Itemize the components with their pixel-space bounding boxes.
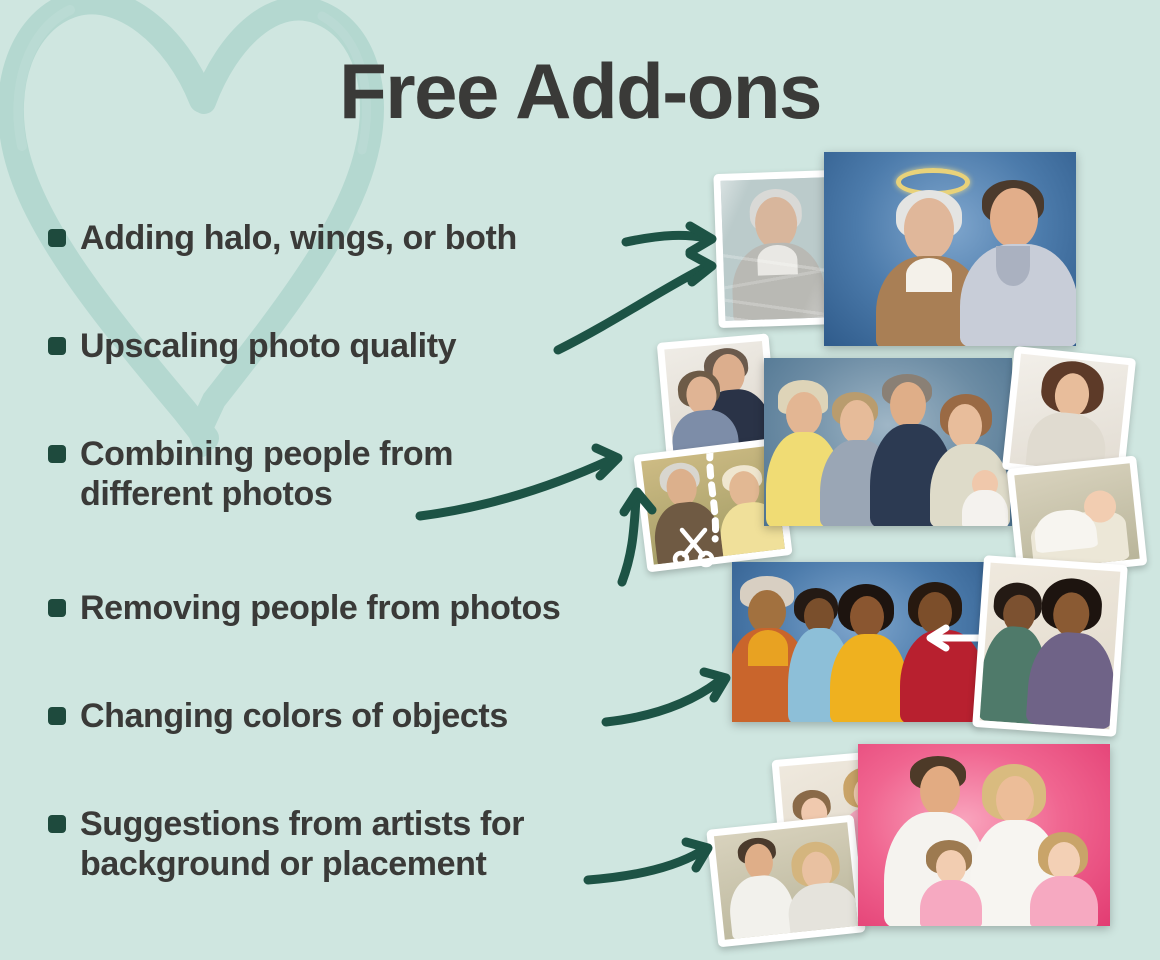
list-item-label: Combining people from different photos bbox=[80, 434, 453, 514]
infographic-canvas: Free Add-ons Adding halo, wings, or both… bbox=[0, 0, 1160, 960]
list-item-upscaling: Upscaling photo quality bbox=[48, 326, 456, 366]
scissors-icon bbox=[672, 524, 716, 568]
square-bullet-icon bbox=[48, 815, 66, 833]
list-item-label: Changing colors of objects bbox=[80, 696, 508, 736]
list-item-label: Adding halo, wings, or both bbox=[80, 218, 517, 258]
square-bullet-icon bbox=[48, 707, 66, 725]
list-item-changing-colors: Changing colors of objects bbox=[48, 696, 508, 736]
page-title: Free Add-ons bbox=[0, 52, 1160, 130]
list-item-removing-people: Removing people from photos bbox=[48, 588, 560, 628]
curved-arrow-icon bbox=[558, 254, 712, 350]
curved-arrow-icon bbox=[606, 672, 726, 722]
square-bullet-icon bbox=[48, 599, 66, 617]
list-item-combining-people: Combining people from different photos bbox=[48, 434, 453, 514]
list-item-label: Upscaling photo quality bbox=[80, 326, 456, 366]
white-arrow-icon bbox=[918, 624, 984, 652]
list-item-artist-suggestions: Suggestions from artists for background … bbox=[48, 804, 524, 884]
square-bullet-icon bbox=[48, 445, 66, 463]
square-bullet-icon bbox=[48, 337, 66, 355]
result-recolored-family-portrait bbox=[732, 562, 984, 722]
source-photo-faded-elderly-woman bbox=[713, 170, 840, 328]
curved-arrow-icon bbox=[588, 842, 708, 880]
curved-arrow-icon bbox=[626, 226, 712, 252]
source-photo-girl-and-woman-original-colors bbox=[972, 555, 1128, 737]
result-combined-family-portrait bbox=[764, 358, 1012, 526]
result-family-portrait-pink-background bbox=[858, 744, 1110, 926]
square-bullet-icon bbox=[48, 229, 66, 247]
list-item-label: Removing people from photos bbox=[80, 588, 560, 628]
list-item-label: Suggestions from artists for background … bbox=[80, 804, 524, 884]
source-photo-man-and-woman bbox=[706, 815, 866, 948]
result-portrait-with-halo bbox=[824, 152, 1076, 346]
list-item-halo-wings: Adding halo, wings, or both bbox=[48, 218, 517, 258]
